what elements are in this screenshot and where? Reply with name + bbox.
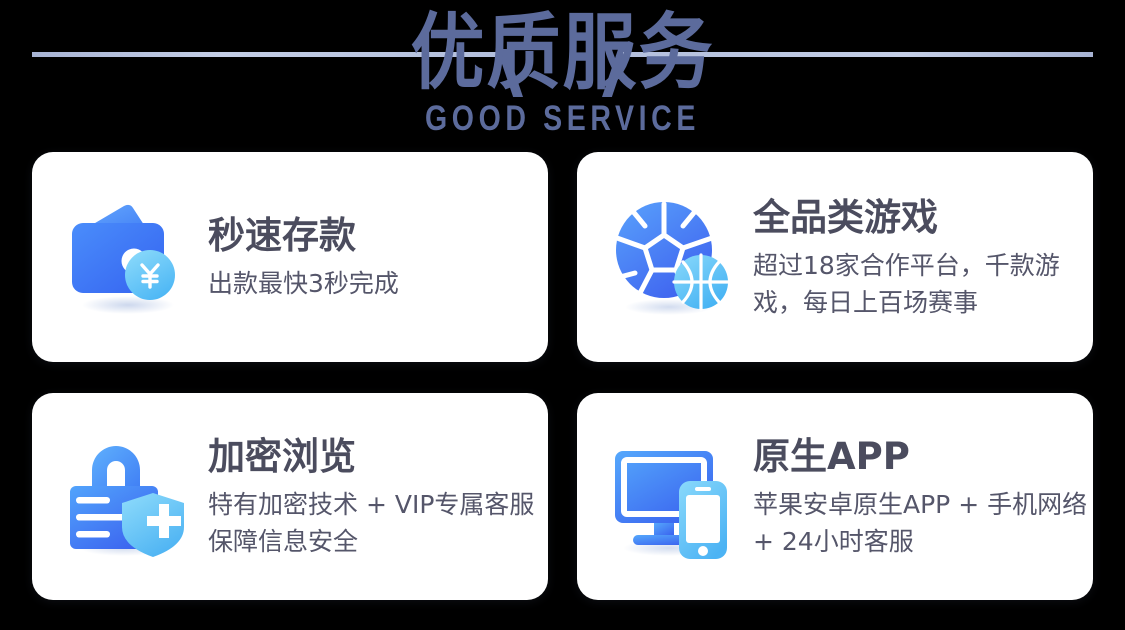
feature-text-native-app: 原生APP 苹果安卓原生APP + 手机网络 + 24小时客服 bbox=[753, 433, 1093, 560]
feature-title: 原生APP bbox=[753, 435, 1093, 479]
feature-desc: 特有加密技术 + VIP专属客服保障信息安全 bbox=[208, 486, 538, 560]
feature-card-native-app[interactable]: 原生APP 苹果安卓原生APP + 手机网络 + 24小时客服 bbox=[577, 393, 1093, 600]
feature-desc: 苹果安卓原生APP + 手机网络 + 24小时客服 bbox=[753, 486, 1093, 560]
feature-title: 秒速存款 bbox=[208, 214, 399, 258]
feature-card-deposit[interactable]: 秒速存款 出款最快3秒完成 bbox=[32, 152, 548, 362]
monitor-phone-icon bbox=[607, 431, 739, 563]
feature-card-encryption[interactable]: 加密浏览 特有加密技术 + VIP专属客服保障信息安全 bbox=[32, 393, 548, 600]
banner-header: 优质服务 GOOD SERVICE bbox=[0, 0, 1125, 140]
promo-banner: 优质服务 GOOD SERVICE bbox=[0, 0, 1125, 630]
feature-text-games: 全品类游戏 超过18家合作平台，千款游戏，每日上百场赛事 bbox=[753, 194, 1093, 321]
feature-text-encryption: 加密浏览 特有加密技术 + VIP专属客服保障信息安全 bbox=[208, 433, 538, 560]
feature-desc: 超过18家合作平台，千款游戏，每日上百场赛事 bbox=[753, 247, 1093, 321]
feature-card-games[interactable]: 全品类游戏 超过18家合作平台，千款游戏，每日上百场赛事 bbox=[577, 152, 1093, 362]
feature-text-deposit: 秒速存款 出款最快3秒完成 bbox=[208, 212, 399, 302]
page-subtitle: GOOD SERVICE bbox=[45, 99, 1080, 138]
lock-shield-icon bbox=[62, 431, 194, 563]
feature-card-grid: 秒速存款 出款最快3秒完成 bbox=[32, 152, 1093, 600]
wallet-yen-icon bbox=[62, 191, 194, 323]
feature-title: 加密浏览 bbox=[208, 435, 538, 479]
soccer-basketball-icon bbox=[607, 191, 739, 323]
feature-title: 全品类游戏 bbox=[753, 196, 1093, 240]
feature-desc: 出款最快3秒完成 bbox=[208, 265, 399, 302]
page-title: 优质服务 bbox=[0, 6, 1125, 100]
